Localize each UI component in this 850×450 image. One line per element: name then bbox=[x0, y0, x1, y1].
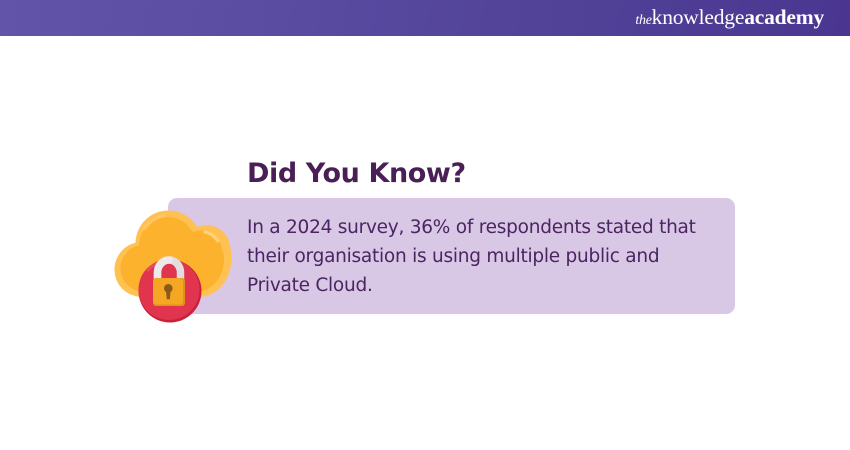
content-area: Did You Know? In a 2024 survey, 36% of r… bbox=[0, 36, 850, 450]
brand-logo-prefix: the bbox=[635, 14, 651, 28]
page-title: Did You Know? bbox=[247, 158, 466, 189]
brand-logo[interactable]: theknowledgeacademy bbox=[635, 7, 824, 29]
brand-logo-suffix: academy bbox=[744, 7, 824, 29]
fact-card-text: In a 2024 survey, 36% of respondents sta… bbox=[247, 213, 723, 300]
brand-logo-middle: knowledge bbox=[652, 7, 745, 29]
header-bar: theknowledgeacademy bbox=[0, 0, 850, 36]
fact-card: In a 2024 survey, 36% of respondents sta… bbox=[168, 198, 735, 314]
cloud-lock-icon bbox=[112, 204, 234, 324]
